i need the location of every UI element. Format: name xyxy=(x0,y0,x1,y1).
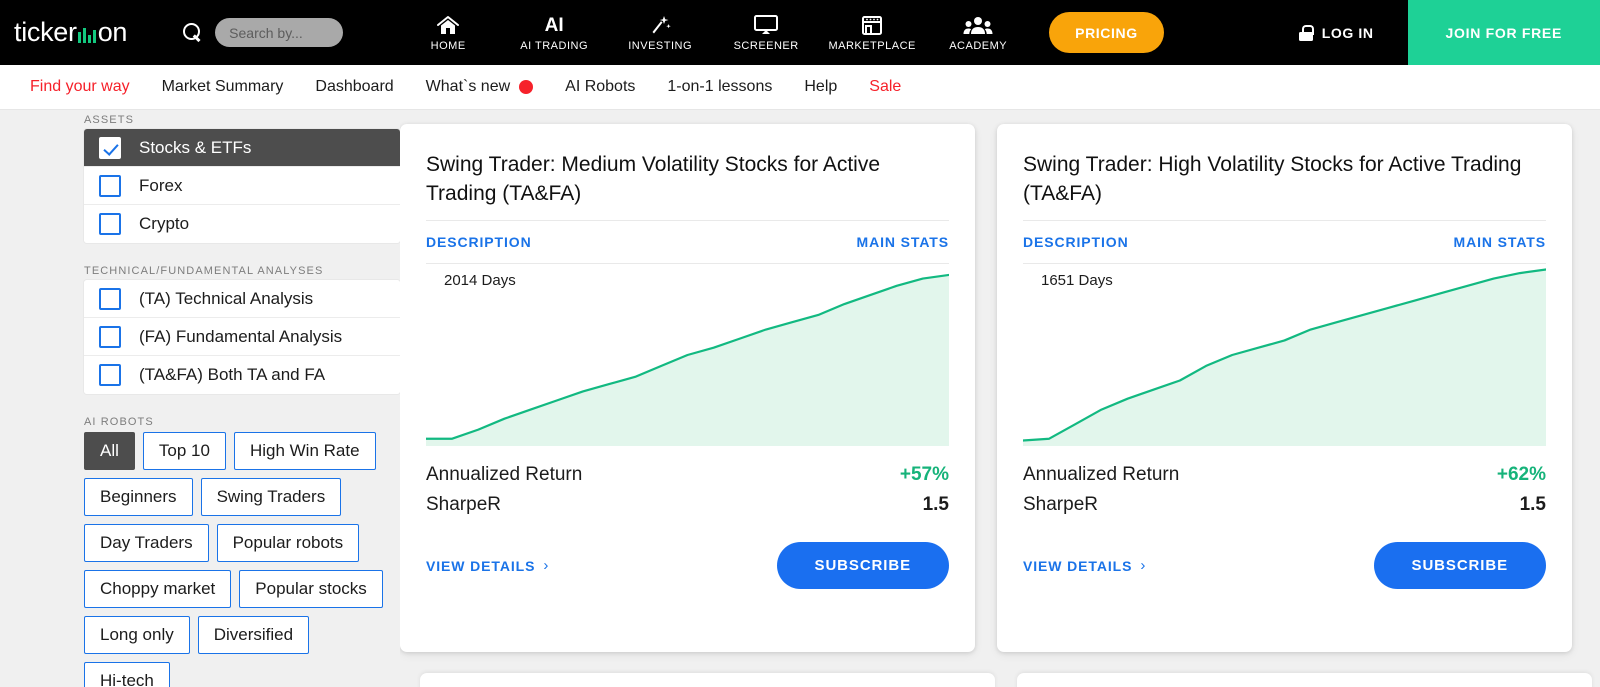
subnav-label-ai-robots: AI Robots xyxy=(565,78,635,96)
checkbox-fundamental-analysis[interactable] xyxy=(99,326,121,348)
tab-description[interactable]: DESCRIPTION xyxy=(426,234,532,250)
filter-label-crypto: Crypto xyxy=(139,214,189,234)
nav-label-screener: SCREENER xyxy=(734,40,799,52)
nav-label-ai-trading: AI TRADING xyxy=(520,40,588,52)
nav-item-academy[interactable]: ACADEMY xyxy=(925,0,1031,65)
view-details-label: VIEW DETAILS xyxy=(426,558,535,574)
assets-group-label: ASSETS xyxy=(84,114,400,126)
stat-value-annualized-return: +62% xyxy=(1497,460,1546,490)
subnav-label-whats-new: What`s new xyxy=(426,78,510,96)
subnav-label-sale: Sale xyxy=(869,78,901,96)
filter-label-technical-analysis: (TA) Technical Analysis xyxy=(139,289,313,309)
chart-days-label: 2014 Days xyxy=(444,272,516,289)
sidebar-spacer xyxy=(84,243,400,265)
pricing-button[interactable]: PRICING xyxy=(1049,12,1164,53)
nav-item-home[interactable]: HOME xyxy=(395,0,501,65)
chip-beginners[interactable]: Beginners xyxy=(84,478,193,516)
subnav-label-help: Help xyxy=(804,78,837,96)
stat-value-annualized-return: +57% xyxy=(900,460,949,490)
subnav-item-1-on-1-lessons[interactable]: 1-on-1 lessons xyxy=(651,78,788,96)
chip-high-win-rate[interactable]: High Win Rate xyxy=(234,432,376,470)
chart-svg xyxy=(426,264,949,446)
stat-row-sharper: SharpeR 1.5 xyxy=(426,490,949,520)
chart-area-fill xyxy=(1023,269,1546,446)
chip-hi-tech[interactable]: Hi-tech xyxy=(84,662,170,687)
filter-row-both-ta-fa[interactable]: (TA&FA) Both TA and FA xyxy=(84,356,400,394)
logo-text-primary: ticker xyxy=(14,17,77,48)
primary-nav-items: HOME AI AI TRADING INVESTING SCREENER MA… xyxy=(395,0,1164,65)
card-title: Swing Trader: High Volatility Stocks for… xyxy=(997,124,1572,220)
ai-robots-chip-list: All Top 10 High Win Rate Beginners Swing… xyxy=(84,432,400,687)
next-row-peek xyxy=(420,673,1600,687)
card-tab-bar: DESCRIPTION MAIN STATS xyxy=(400,221,975,263)
checkbox-forex[interactable] xyxy=(99,175,121,197)
view-details-link[interactable]: VIEW DETAILS › xyxy=(426,557,549,574)
filter-row-fundamental-analysis[interactable]: (FA) Fundamental Analysis xyxy=(84,318,400,356)
filter-label-both-ta-fa: (TA&FA) Both TA and FA xyxy=(139,365,325,385)
card-stats: Annualized Return +62% SharpeR 1.5 xyxy=(997,446,1572,520)
login-button[interactable]: LOG IN xyxy=(1265,0,1408,65)
robot-cards-grid: Swing Trader: Medium Volatility Stocks f… xyxy=(400,110,1600,687)
performance-chart: 1651 Days xyxy=(1023,264,1546,446)
subnav-item-whats-new[interactable]: What`s new xyxy=(410,78,549,96)
card-action-bar: VIEW DETAILS › SUBSCRIBE xyxy=(997,520,1572,589)
lock-icon xyxy=(1299,25,1313,41)
chart-area-fill xyxy=(426,275,949,446)
ai-robots-group-label: AI ROBOTS xyxy=(84,416,400,428)
top-nav-right-group: LOG IN JOIN FOR FREE xyxy=(1265,0,1600,65)
chart-bars-icon xyxy=(78,26,96,43)
chip-long-only[interactable]: Long only xyxy=(84,616,190,654)
analyses-group-label: TECHNICAL/FUNDAMENTAL ANALYSES xyxy=(84,265,400,277)
filter-label-forex: Forex xyxy=(139,176,182,196)
tab-main-stats[interactable]: MAIN STATS xyxy=(1454,234,1546,250)
logo-text-secondary: on xyxy=(98,17,127,48)
ai-icon-text: AI xyxy=(545,16,564,36)
shop-icon xyxy=(861,14,883,36)
subnav-item-help[interactable]: Help xyxy=(788,78,853,96)
chevron-right-icon: › xyxy=(1140,557,1146,574)
filter-row-stocks-etfs[interactable]: Stocks & ETFs xyxy=(84,129,400,167)
page-body: ASSETS Stocks & ETFs Forex Crypto TECHNI… xyxy=(0,110,1600,687)
view-details-label: VIEW DETAILS xyxy=(1023,558,1132,574)
subnav-item-ai-robots[interactable]: AI Robots xyxy=(549,78,651,96)
subnav-item-sale[interactable]: Sale xyxy=(853,78,917,96)
chevron-right-icon: › xyxy=(543,557,549,574)
stat-row-sharper: SharpeR 1.5 xyxy=(1023,490,1546,520)
chip-popular-stocks[interactable]: Popular stocks xyxy=(239,570,383,608)
tab-description[interactable]: DESCRIPTION xyxy=(1023,234,1129,250)
chip-top-10[interactable]: Top 10 xyxy=(143,432,226,470)
chip-day-traders[interactable]: Day Traders xyxy=(84,524,209,562)
filter-row-crypto[interactable]: Crypto xyxy=(84,205,400,243)
filter-row-forex[interactable]: Forex xyxy=(84,167,400,205)
nav-item-ai-trading[interactable]: AI AI TRADING xyxy=(501,0,607,65)
subnav-label-dashboard: Dashboard xyxy=(315,78,393,96)
search-icon[interactable] xyxy=(183,23,203,43)
stat-label-sharper: SharpeR xyxy=(1023,490,1098,520)
card-stats: Annualized Return +57% SharpeR 1.5 xyxy=(400,446,975,520)
assets-checklist: Stocks & ETFs Forex Crypto xyxy=(84,129,400,243)
people-icon xyxy=(963,14,993,36)
tab-main-stats[interactable]: MAIN STATS xyxy=(857,234,949,250)
checkbox-crypto[interactable] xyxy=(99,213,121,235)
robot-card[interactable]: Swing Trader: High Volatility Stocks for… xyxy=(997,124,1572,652)
ai-icon: AI xyxy=(545,14,564,36)
stat-value-sharper: 1.5 xyxy=(923,490,949,520)
home-icon xyxy=(436,14,460,36)
new-badge-icon xyxy=(519,80,533,94)
search-area xyxy=(183,18,343,47)
chip-diversified[interactable]: Diversified xyxy=(198,616,309,654)
nav-label-investing: INVESTING xyxy=(628,40,692,52)
card-action-bar: VIEW DETAILS › SUBSCRIBE xyxy=(400,520,975,589)
subnav-label-find-your-way: Find your way xyxy=(30,78,130,96)
filter-label-fundamental-analysis: (FA) Fundamental Analysis xyxy=(139,327,342,347)
nav-item-marketplace[interactable]: MARKETPLACE xyxy=(819,0,925,65)
login-label: LOG IN xyxy=(1322,25,1374,41)
site-logo[interactable]: ticker on xyxy=(14,17,127,48)
view-details-link[interactable]: VIEW DETAILS › xyxy=(1023,557,1146,574)
stat-label-annualized-return: Annualized Return xyxy=(426,460,582,490)
sidebar-spacer-2 xyxy=(84,394,400,416)
subnav-label-market-summary: Market Summary xyxy=(162,78,284,96)
performance-chart: 2014 Days xyxy=(426,264,949,446)
checkbox-technical-analysis[interactable] xyxy=(99,288,121,310)
subnav-item-market-summary[interactable]: Market Summary xyxy=(146,78,300,96)
checkbox-both-ta-fa[interactable] xyxy=(99,364,121,386)
chart-svg xyxy=(1023,264,1546,446)
secondary-navigation-bar: Find your way Market Summary Dashboard W… xyxy=(0,65,1600,110)
stat-label-sharper: SharpeR xyxy=(426,490,501,520)
filter-row-technical-analysis[interactable]: (TA) Technical Analysis xyxy=(84,280,400,318)
top-navigation-bar: ticker on HOME AI AI TRADING INVESTING xyxy=(0,0,1600,65)
nav-label-home: HOME xyxy=(431,40,466,52)
analyses-checklist: (TA) Technical Analysis (FA) Fundamental… xyxy=(84,280,400,394)
nav-item-screener[interactable]: SCREENER xyxy=(713,0,819,65)
filters-sidebar: ASSETS Stocks & ETFs Forex Crypto TECHNI… xyxy=(0,110,400,687)
chip-choppy-market[interactable]: Choppy market xyxy=(84,570,231,608)
monitor-icon xyxy=(753,14,779,36)
robot-card[interactable]: Swing Trader: Medium Volatility Stocks f… xyxy=(400,124,975,652)
stat-value-sharper: 1.5 xyxy=(1520,490,1546,520)
peek-card-1[interactable] xyxy=(420,673,995,687)
chart-days-label: 1651 Days xyxy=(1041,272,1113,289)
join-for-free-button[interactable]: JOIN FOR FREE xyxy=(1408,0,1600,65)
chip-all[interactable]: All xyxy=(84,432,135,470)
stat-row-annualized-return: Annualized Return +57% xyxy=(426,460,949,490)
stat-row-annualized-return: Annualized Return +62% xyxy=(1023,460,1546,490)
nav-label-marketplace: MARKETPLACE xyxy=(828,40,915,52)
nav-item-investing[interactable]: INVESTING xyxy=(607,0,713,65)
card-title: Swing Trader: Medium Volatility Stocks f… xyxy=(400,124,975,220)
subscribe-button[interactable]: SUBSCRIBE xyxy=(777,542,949,589)
subnav-label-1-on-1-lessons: 1-on-1 lessons xyxy=(667,78,772,96)
chip-popular-robots[interactable]: Popular robots xyxy=(217,524,360,562)
chip-swing-traders[interactable]: Swing Traders xyxy=(201,478,342,516)
card-tab-bar: DESCRIPTION MAIN STATS xyxy=(997,221,1572,263)
search-input[interactable] xyxy=(215,18,343,47)
subnav-item-dashboard[interactable]: Dashboard xyxy=(299,78,409,96)
subscribe-button[interactable]: SUBSCRIBE xyxy=(1374,542,1546,589)
magic-wand-icon xyxy=(648,14,672,36)
filter-label-stocks-etfs: Stocks & ETFs xyxy=(139,138,251,158)
peek-card-2[interactable] xyxy=(1017,673,1592,687)
nav-label-academy: ACADEMY xyxy=(949,40,1007,52)
stat-label-annualized-return: Annualized Return xyxy=(1023,460,1179,490)
subnav-item-find-your-way[interactable]: Find your way xyxy=(14,78,146,96)
checkbox-stocks-etfs[interactable] xyxy=(99,137,121,159)
